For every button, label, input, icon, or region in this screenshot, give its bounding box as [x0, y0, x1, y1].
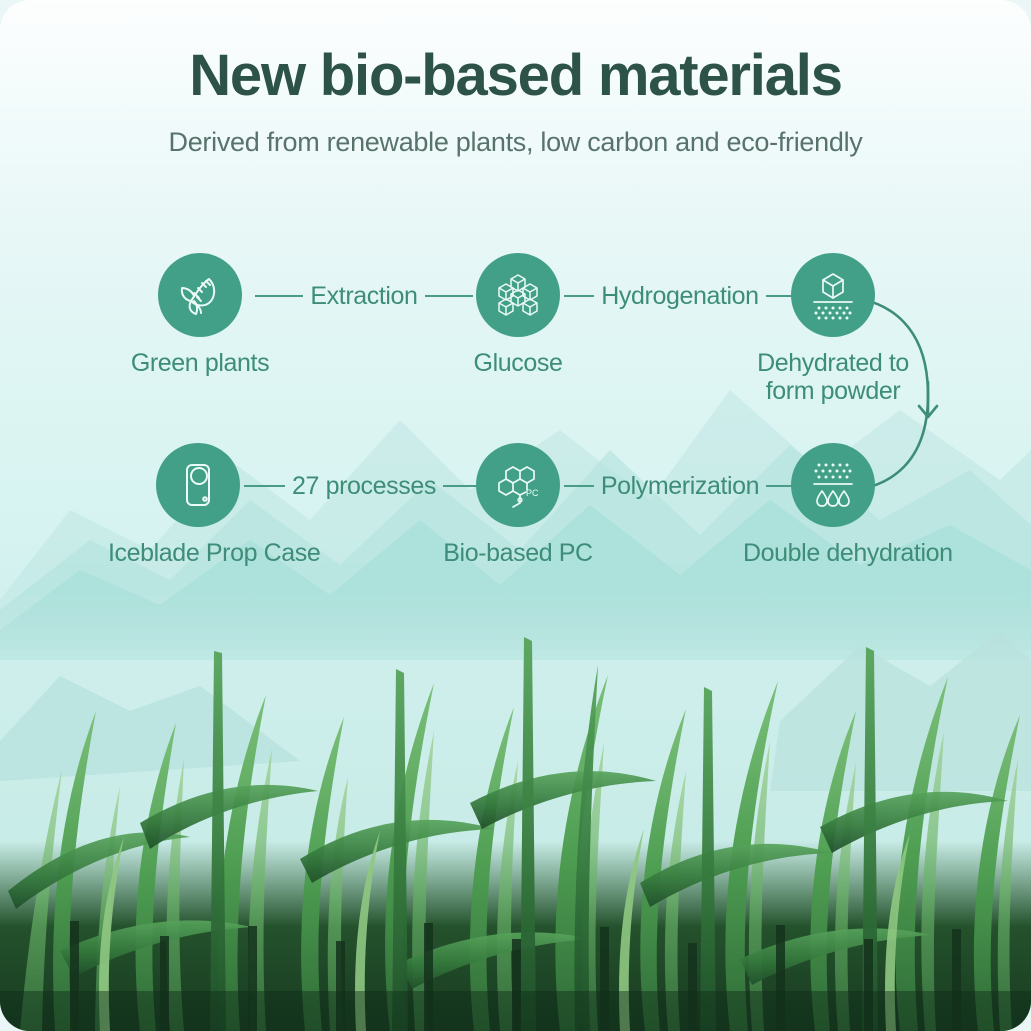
infographic-card: New bio-based materials Derived from ren…	[0, 0, 1031, 1031]
phone-case-icon	[174, 461, 222, 509]
corn-icon	[175, 270, 225, 320]
process-flow-diagram: Extraction Hydrogenation 27 processes Po…	[0, 0, 1031, 620]
molecule-pc-icon: PC	[492, 459, 544, 511]
flow-node-green-plants[interactable]: Green plants	[110, 253, 290, 377]
icon-circle	[791, 443, 875, 527]
sugar-cubes-icon	[493, 270, 543, 320]
connector-label-polymerization: Polymerization	[601, 472, 759, 501]
flow-node-iceblade-prop-case[interactable]: Iceblade Prop Case	[108, 443, 288, 567]
icon-circle: PC	[476, 443, 560, 527]
icon-circle	[476, 253, 560, 337]
flow-node-label: Dehydrated to form powder	[743, 349, 923, 405]
cube-powder-icon	[807, 269, 859, 321]
connector-label-hydrogenation: Hydrogenation	[601, 282, 758, 311]
flow-node-double-dehydration[interactable]: Double dehydration	[743, 443, 923, 567]
droplets-dehydration-icon	[807, 459, 859, 511]
flow-node-label: Bio-based PC	[428, 539, 608, 567]
sugarcane-field-image	[0, 591, 1031, 1031]
flow-node-label: Iceblade Prop Case	[108, 539, 288, 567]
icon-circle	[156, 443, 240, 527]
connector-label-extraction: Extraction	[310, 282, 417, 311]
icon-circle	[791, 253, 875, 337]
flow-node-bio-based-pc[interactable]: PC Bio-based PC	[428, 443, 608, 567]
flow-node-label: Double dehydration	[743, 539, 923, 567]
flow-node-dehydrated[interactable]: Dehydrated to form powder	[743, 253, 923, 405]
connector-label-processes: 27 processes	[292, 472, 436, 501]
flow-node-label: Glucose	[428, 349, 608, 377]
flow-node-label: Green plants	[110, 349, 290, 377]
molecule-pc-text: PC	[526, 488, 539, 498]
icon-circle	[158, 253, 242, 337]
flow-node-glucose[interactable]: Glucose	[428, 253, 608, 377]
